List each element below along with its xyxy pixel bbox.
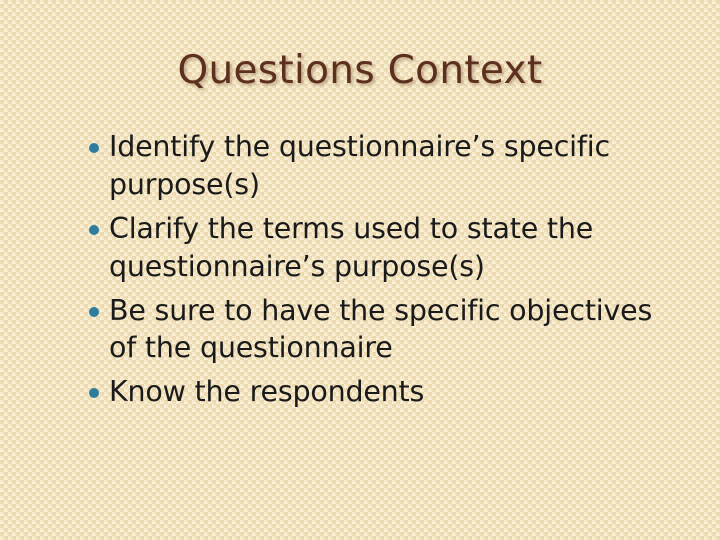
list-item-label: Know the respondents <box>109 373 686 411</box>
presentation-slide: Questions Context Identify the questionn… <box>0 0 720 540</box>
list-item-label: Clarify the terms used to state the ques… <box>109 210 686 286</box>
list-item: Identify the questionnaire’s specific pu… <box>86 128 686 204</box>
bullet-dot-icon <box>89 225 99 235</box>
page-title: Questions Context <box>177 48 542 93</box>
list-item: Know the respondents <box>86 373 686 411</box>
list-item: Be sure to have the specific objectives … <box>86 292 686 368</box>
list-item-label: Identify the questionnaire’s specific pu… <box>109 128 686 204</box>
bullet-list: Identify the questionnaire’s specific pu… <box>86 128 686 417</box>
slide-title-area: Questions Context <box>0 22 720 119</box>
bullet-dot-icon <box>89 143 99 153</box>
list-item: Clarify the terms used to state the ques… <box>86 210 686 286</box>
list-item-label: Be sure to have the specific objectives … <box>109 292 686 368</box>
bullet-dot-icon <box>89 307 99 317</box>
bullet-dot-icon <box>89 388 99 398</box>
